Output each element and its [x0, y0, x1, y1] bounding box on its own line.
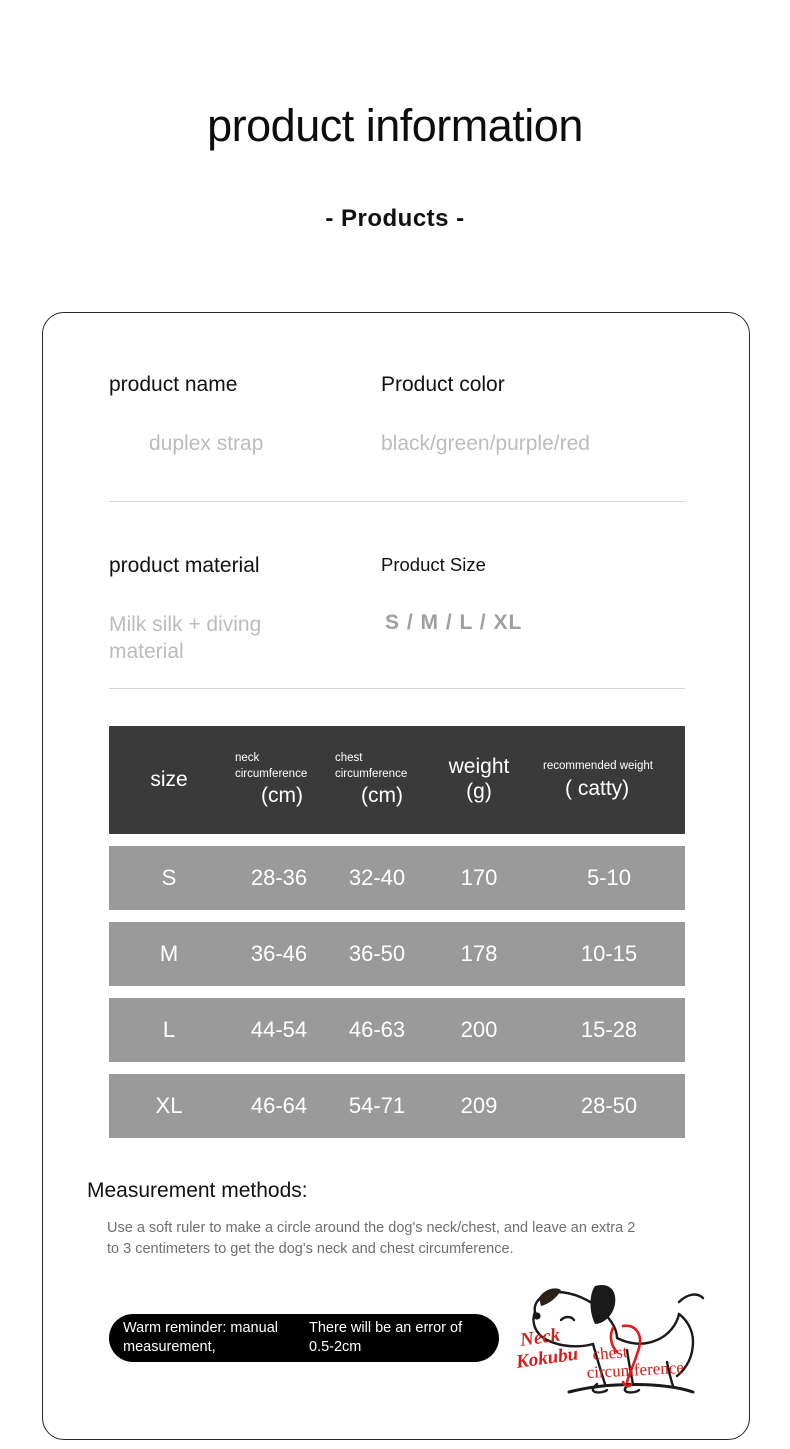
size-table-header-recommended: recommended weight ( catty) [533, 759, 685, 801]
header-unit-chest: (cm) [361, 784, 419, 808]
cell-recommended: 5-10 [533, 865, 685, 891]
size-table-header-weight: weight (g) [425, 755, 533, 804]
cell-recommended: 15-28 [533, 1017, 685, 1043]
spec-row-2: product material Milk silk + diving mate… [109, 554, 685, 704]
page-subtitle: - Products - [0, 205, 790, 233]
spec-value-product-size: S / M / L / XL [385, 610, 685, 637]
warm-reminder-right: There will be an error of 0.5-2cm [309, 1319, 489, 1357]
spec-product-material: product material Milk silk + diving mate… [109, 554, 379, 666]
header-label-neck: neck circumference [235, 751, 323, 782]
cell-neck: 36-46 [229, 941, 329, 967]
spec-label-product-name: product name [109, 373, 379, 397]
size-table-header-row: size neck circumference (cm) chest circu… [109, 726, 685, 834]
cell-chest: 36-50 [329, 941, 425, 967]
header-label-chest: chest circumference [335, 751, 419, 782]
table-row: XL 46-64 54-71 209 28-50 [109, 1074, 685, 1138]
warm-reminder-badge: Warm reminder: manual measurement, There… [109, 1314, 499, 1362]
size-table: size neck circumference (cm) chest circu… [109, 726, 685, 1138]
measurement-methods-text: Use a soft ruler to make a circle around… [107, 1218, 647, 1260]
spec-divider-2 [109, 688, 685, 689]
cell-size: S [109, 865, 229, 891]
header-unit-recommended: ( catty) [565, 777, 679, 801]
cell-recommended: 10-15 [533, 941, 685, 967]
cell-weight: 200 [425, 1017, 533, 1043]
spec-label-product-color: Product color [381, 373, 685, 397]
table-row: M 36-46 36-50 178 10-15 [109, 922, 685, 986]
spec-product-name: product name duplex strap [109, 373, 379, 458]
cell-size: L [109, 1017, 229, 1043]
cell-chest: 54-71 [329, 1093, 425, 1119]
spec-product-color: Product color black/green/purple/red [381, 373, 685, 458]
table-row: S 28-36 32-40 170 5-10 [109, 846, 685, 910]
header-unit-neck: (cm) [261, 784, 323, 808]
spec-value-product-name: duplex strap [149, 431, 379, 458]
spec-label-product-size: Product Size [381, 554, 685, 576]
spec-label-product-material: product material [109, 554, 379, 578]
header-unit-weight: (g) [431, 780, 527, 804]
cell-size: M [109, 941, 229, 967]
header-label-recommended: recommended weight [539, 759, 679, 775]
cell-chest: 32-40 [329, 865, 425, 891]
cell-weight: 209 [425, 1093, 533, 1119]
warm-reminder-left: Warm reminder: manual measurement, [123, 1319, 309, 1357]
cell-weight: 170 [425, 865, 533, 891]
spec-value-product-color: black/green/purple/red [381, 431, 685, 458]
cell-recommended: 28-50 [533, 1093, 685, 1119]
product-info-card: product name duplex strap Product color … [42, 312, 750, 1440]
size-table-header-chest: chest circumference (cm) [329, 751, 425, 808]
dog-measurement-illustration: Neck Kokubu chest circumference [517, 1276, 723, 1404]
cell-neck: 46-64 [229, 1093, 329, 1119]
spec-product-size: Product Size S / M / L / XL [381, 554, 685, 637]
cell-neck: 28-36 [229, 865, 329, 891]
cell-weight: 178 [425, 941, 533, 967]
measurement-methods-title: Measurement methods: [87, 1179, 308, 1203]
cell-neck: 44-54 [229, 1017, 329, 1043]
size-table-header-size: size [109, 768, 229, 791]
cell-size: XL [109, 1093, 229, 1119]
spec-value-product-material: Milk silk + diving material [109, 612, 309, 666]
size-table-header-neck: neck circumference (cm) [229, 751, 329, 808]
page-title: product information [0, 100, 790, 152]
header-label-size: size [115, 768, 223, 791]
product-information-page: product information - Products - product… [0, 0, 790, 1449]
cell-chest: 46-63 [329, 1017, 425, 1043]
header-label-weight: weight [431, 755, 527, 778]
table-row: L 44-54 46-63 200 15-28 [109, 998, 685, 1062]
spec-divider-1 [109, 501, 685, 502]
